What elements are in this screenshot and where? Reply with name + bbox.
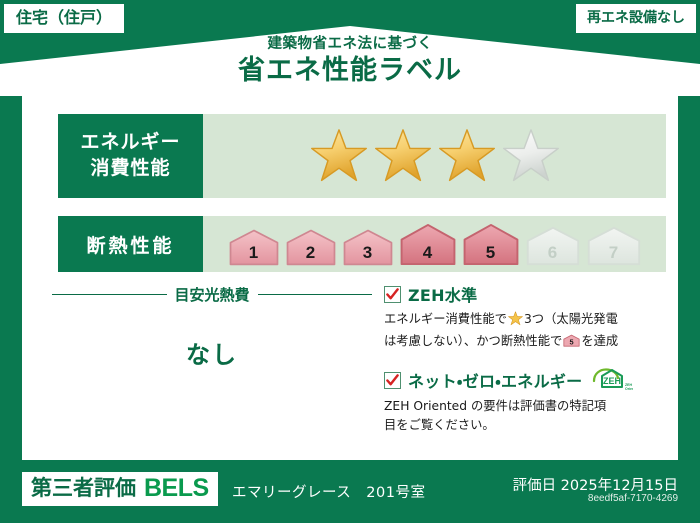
insulation-level-2-number: 2 bbox=[284, 243, 338, 263]
insulation-level-3: 3 bbox=[341, 227, 395, 267]
label-main-title: 省エネ性能ラベル bbox=[0, 54, 700, 88]
insulation-level-6: 6 bbox=[524, 224, 582, 267]
check-icon bbox=[386, 288, 399, 301]
net-zero-energy-title: ネット・ゼロ・エネルギー bbox=[408, 368, 582, 392]
insulation-level-5-number: 5 bbox=[461, 243, 521, 263]
zeh-standard-checkbox[interactable] bbox=[384, 286, 401, 303]
zeh-standard-block: ZEH水準 エネルギー消費性能で3つ（太陽光発電 は考慮しない）、かつ断熱性能で… bbox=[384, 282, 668, 353]
insulation-level-1: 1 bbox=[227, 227, 281, 267]
insulation-level-2: 2 bbox=[284, 227, 338, 267]
estimated-utility-cost-value: なし bbox=[52, 335, 372, 370]
energy-performance-label: 住宅（住戸） 再エネ設備なし 建築物省エネ法に基づく 省エネ性能ラベル エネルギ… bbox=[0, 0, 700, 523]
zeh-oriented-logo: ZEH ZEH Oriented bbox=[591, 367, 633, 393]
svg-text:ZEH: ZEH bbox=[603, 376, 621, 386]
insulation-level-4: 4 bbox=[398, 222, 458, 267]
insulation-label-text: 断熱性能 bbox=[86, 231, 174, 258]
zeh-standard-body: エネルギー消費性能で3つ（太陽光発電 は考慮しない）、かつ断熱性能で5を達成 bbox=[384, 310, 668, 353]
zeh-standard-title: ZEH水準 bbox=[408, 282, 477, 306]
renewable-equipment-tag: 再エネ設備なし bbox=[576, 4, 696, 33]
svg-text:5: 5 bbox=[570, 337, 574, 346]
net-zero-energy-text-line1: ZEH Oriented の要件は評価書の特記項 bbox=[384, 399, 606, 413]
insulation-level-1-number: 1 bbox=[227, 243, 281, 263]
energy-label-line2: 消費性能 bbox=[90, 156, 170, 182]
net-zero-energy-header: ネット・ゼロ・エネルギー ZEH ZEH Oriented bbox=[384, 367, 668, 393]
label-body-panel: エネルギー 消費性能 bbox=[22, 92, 678, 460]
evaluation-id: 8eedf5af-7170-4269 bbox=[588, 493, 678, 504]
star-filled-icon-2 bbox=[374, 128, 432, 184]
net-zero-energy-checkbox[interactable] bbox=[384, 372, 401, 389]
net-zero-energy-block: ネット・ゼロ・エネルギー ZEH ZEH Oriented ZEH Orient… bbox=[384, 367, 668, 434]
label-footer: 第三者評価 BELS エマリーグレース 201号室 評価日 2025年12月15… bbox=[0, 460, 700, 523]
zeh-standard-text-2a: は考慮しない）、かつ断熱性能で bbox=[384, 334, 562, 348]
zeh-standard-text-1b: 3つ（太陽光発電 bbox=[524, 312, 618, 326]
bels-third-party-label: 第三者評価 bbox=[31, 478, 136, 499]
insulation-level-7: 7 bbox=[585, 224, 643, 267]
zeh-section: ZEH水準 エネルギー消費性能で3つ（太陽光発電 は考慮しない）、かつ断熱性能で… bbox=[384, 282, 668, 449]
estimated-utility-cost-block: 目安光熱費 なし bbox=[52, 284, 372, 370]
net-zero-energy-body: ZEH Oriented の要件は評価書の特記項 目をご覧ください。 bbox=[384, 397, 668, 434]
insulation-level-5: 5 bbox=[461, 222, 521, 267]
zeh-standard-header: ZEH水準 bbox=[384, 282, 668, 306]
evaluation-date: 評価日 2025年12月15日 bbox=[513, 474, 678, 495]
star-rating bbox=[310, 128, 560, 184]
cost-rule-left bbox=[52, 294, 167, 295]
check-icon bbox=[386, 374, 399, 387]
star-filled-icon-1 bbox=[310, 128, 368, 184]
label-subtitle: 建築物省エネ法に基づく bbox=[0, 36, 700, 53]
label-title: 建築物省エネ法に基づく 省エネ性能ラベル bbox=[0, 36, 700, 87]
insulation-level-4-number: 4 bbox=[398, 243, 458, 263]
bels-badge: 第三者評価 BELS bbox=[22, 472, 218, 506]
net-zero-energy-text-line2: 目をご覧ください。 bbox=[384, 418, 495, 432]
cost-heading-text: 目安光熱費 bbox=[175, 284, 250, 305]
star-icon-inline bbox=[508, 311, 523, 332]
zeh-standard-text-1a: エネルギー消費性能で bbox=[384, 312, 507, 326]
star-filled-icon-3 bbox=[438, 128, 496, 184]
cost-rule-right bbox=[258, 294, 373, 295]
insulation-level-3-number: 3 bbox=[341, 243, 395, 263]
insulation-performance-row: 断熱性能 bbox=[58, 216, 666, 272]
insulation-level-7-number: 7 bbox=[585, 243, 643, 263]
building-name: エマリーグレース 201号室 bbox=[232, 481, 425, 502]
energy-rating-stars-area bbox=[203, 114, 666, 198]
insulation-level-scale: 1 2 3 bbox=[227, 222, 643, 267]
svg-text:ZEH: ZEH bbox=[625, 383, 632, 387]
energy-performance-row: エネルギー 消費性能 bbox=[58, 114, 666, 198]
insulation-level-6-number: 6 bbox=[524, 243, 582, 263]
star-empty-icon-4 bbox=[502, 128, 560, 184]
house-level-5-icon-inline: 5 bbox=[563, 333, 580, 354]
insulation-level-area: 1 2 3 bbox=[203, 216, 666, 272]
svg-text:Oriented: Oriented bbox=[625, 387, 633, 391]
bels-logo-text: BELS bbox=[144, 476, 209, 501]
dwelling-type-tag: 住宅（住戸） bbox=[4, 4, 124, 33]
insulation-performance-label-box: 断熱性能 bbox=[58, 216, 203, 272]
estimated-utility-cost-heading: 目安光熱費 bbox=[52, 284, 372, 305]
zeh-standard-text-2b: を達成 bbox=[581, 334, 618, 348]
energy-performance-label-box: エネルギー 消費性能 bbox=[58, 114, 203, 198]
energy-label-line1: エネルギー bbox=[80, 130, 180, 156]
